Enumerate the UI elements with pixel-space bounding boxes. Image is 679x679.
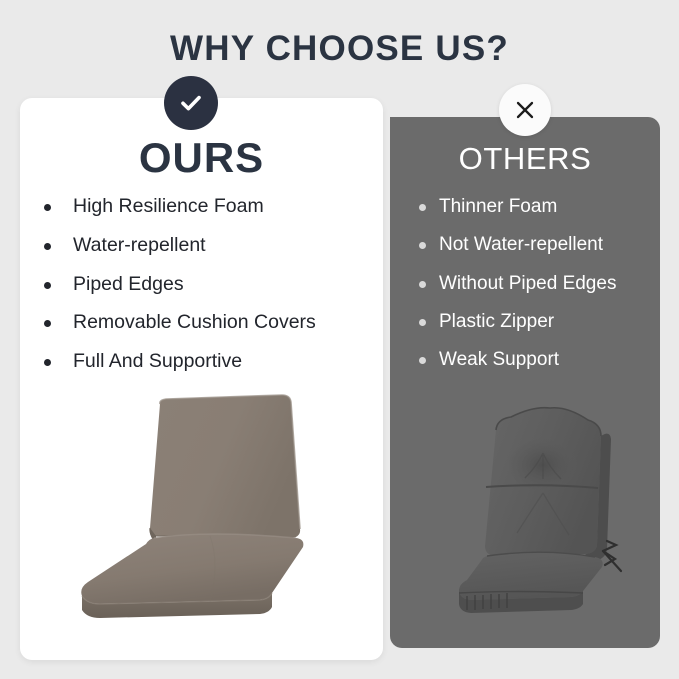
list-item-label: Water-repellent	[73, 235, 206, 257]
close-badge	[499, 84, 551, 136]
list-item: Plastic Zipper	[419, 311, 664, 332]
page-title: WHY CHOOSE US?	[0, 29, 679, 69]
bullet-icon	[44, 282, 51, 289]
list-item-label: High Resilience Foam	[73, 196, 264, 218]
list-item-label: Piped Edges	[73, 274, 184, 296]
bullet-icon	[419, 204, 426, 211]
list-item-label: Thinner Foam	[439, 196, 557, 217]
list-item-label: Full And Supportive	[73, 351, 242, 373]
list-item-label: Not Water-repellent	[439, 234, 603, 255]
list-item: Not Water-repellent	[419, 234, 664, 255]
heading-others: OTHERS	[390, 141, 660, 177]
list-item: Water-repellent	[44, 235, 374, 257]
bullet-icon	[44, 320, 51, 327]
bullet-icon	[419, 242, 426, 249]
check-icon	[176, 88, 206, 118]
list-item: Piped Edges	[44, 274, 374, 296]
list-item: Without Piped Edges	[419, 273, 664, 294]
list-item: Full And Supportive	[44, 351, 374, 373]
infographic-root: WHY CHOOSE US? OURS OTHERS High Resilien…	[0, 0, 679, 679]
product-image-others	[455, 393, 645, 623]
list-item: Removable Cushion Covers	[44, 312, 374, 334]
bullet-icon	[44, 204, 51, 211]
close-icon	[512, 97, 538, 123]
list-item-label: Without Piped Edges	[439, 273, 616, 294]
list-item: High Resilience Foam	[44, 196, 374, 218]
bullet-icon	[419, 357, 426, 364]
product-image-ours	[60, 388, 350, 628]
bullet-icon	[44, 359, 51, 366]
list-item: Weak Support	[419, 349, 664, 370]
bullet-icon	[44, 243, 51, 250]
heading-ours: OURS	[20, 134, 383, 182]
feature-list-ours: High Resilience Foam Water-repellent Pip…	[44, 196, 374, 390]
bullet-icon	[419, 281, 426, 288]
list-item-label: Weak Support	[439, 349, 559, 370]
list-item-label: Plastic Zipper	[439, 311, 554, 332]
bullet-icon	[419, 319, 426, 326]
list-item: Thinner Foam	[419, 196, 664, 217]
list-item-label: Removable Cushion Covers	[73, 312, 316, 334]
feature-list-others: Thinner Foam Not Water-repellent Without…	[419, 196, 664, 387]
check-badge	[164, 76, 218, 130]
